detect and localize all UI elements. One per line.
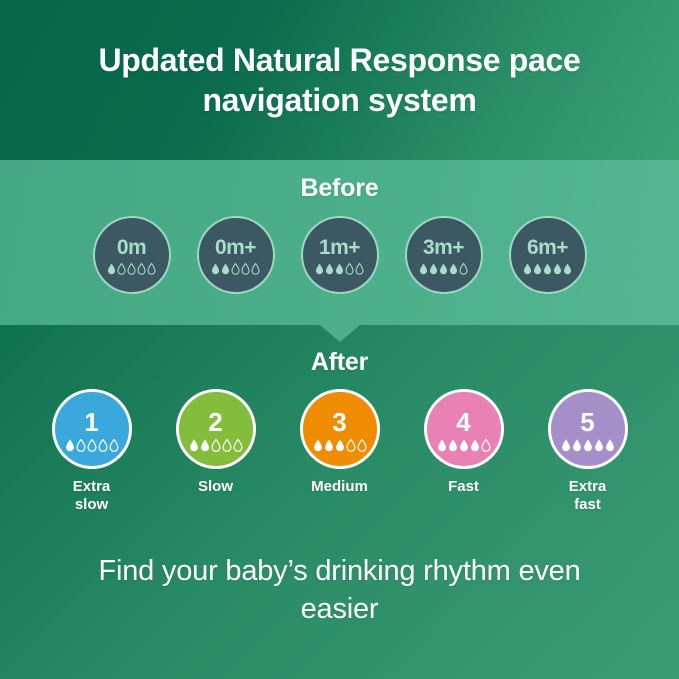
droplet-outline-icon (346, 439, 356, 452)
droplet-filled-icon (324, 439, 334, 452)
header-banner: Updated Natural Response pace navigation… (0, 0, 679, 160)
droplet-filled-icon (429, 263, 438, 275)
droplet-outline-icon (98, 439, 108, 452)
droplet-filled-icon (572, 439, 582, 452)
before-badge-age-label: 0m+ (215, 237, 256, 258)
before-droplet-meter (315, 263, 364, 275)
before-badge: 0m+ (197, 216, 275, 294)
after-badge: 5 (548, 389, 628, 469)
after-badge-label: Extra fast (569, 478, 607, 513)
droplet-filled-icon (605, 439, 615, 452)
droplet-outline-icon (137, 263, 146, 275)
after-badge-row: 1Extra slow2Slow3Medium4Fast5Extra fast (0, 389, 679, 513)
after-badge-number: 4 (456, 409, 470, 435)
page-title: Updated Natural Response pace navigation… (0, 40, 679, 120)
droplet-filled-icon (439, 263, 448, 275)
droplet-filled-icon (325, 263, 334, 275)
after-badge: 3 (300, 389, 380, 469)
after-badge-label: Fast (448, 478, 479, 496)
droplet-outline-icon (109, 439, 119, 452)
before-droplet-meter (419, 263, 468, 275)
droplet-filled-icon (211, 263, 220, 275)
after-droplet-meter (313, 439, 367, 452)
before-badge: 0m (93, 216, 171, 294)
droplet-filled-icon (65, 439, 75, 452)
before-badge: 6m+ (509, 216, 587, 294)
droplet-filled-icon (448, 439, 458, 452)
droplet-filled-icon (313, 439, 323, 452)
before-badge: 3m+ (405, 216, 483, 294)
droplet-filled-icon (107, 263, 116, 275)
after-badge-item: 1Extra slow (43, 389, 141, 513)
after-badge-number: 5 (580, 409, 594, 435)
after-badge-label: Extra slow (73, 478, 111, 513)
promo-poster: Updated Natural Response pace navigation… (0, 0, 679, 679)
after-badge-item: 3Medium (291, 389, 389, 496)
droplet-filled-icon (189, 439, 199, 452)
after-badge-item: 5Extra fast (539, 389, 637, 513)
after-badge-label: Medium (311, 478, 368, 496)
before-badge-row: 0m0m+1m+3m+6m+ (0, 216, 679, 294)
droplet-outline-icon (459, 263, 468, 275)
before-badge-age-label: 0m (117, 237, 146, 258)
footer-tagline: Find your baby’s drinking rhythm even ea… (0, 552, 679, 629)
before-droplet-meter (523, 263, 572, 275)
droplet-outline-icon (481, 439, 491, 452)
before-badge: 1m+ (301, 216, 379, 294)
before-droplet-meter (211, 263, 260, 275)
before-section: Before 0m0m+1m+3m+6m+ (0, 160, 679, 325)
after-section: After 1Extra slow2Slow3Medium4Fast5Extra… (0, 348, 679, 513)
before-badge-age-label: 6m+ (527, 237, 568, 258)
droplet-outline-icon (147, 263, 156, 275)
droplet-filled-icon (419, 263, 428, 275)
droplet-outline-icon (241, 263, 250, 275)
after-badge-number: 2 (208, 409, 222, 435)
after-badge-item: 2Slow (167, 389, 265, 496)
droplet-outline-icon (251, 263, 260, 275)
droplet-outline-icon (355, 263, 364, 275)
before-badge-age-label: 3m+ (423, 237, 464, 258)
droplet-filled-icon (533, 263, 542, 275)
droplet-filled-icon (543, 263, 552, 275)
after-badge: 2 (176, 389, 256, 469)
after-badge: 4 (424, 389, 504, 469)
droplet-filled-icon (583, 439, 593, 452)
droplet-outline-icon (76, 439, 86, 452)
droplet-outline-icon (117, 263, 126, 275)
triangle-down-icon (320, 325, 360, 342)
after-droplet-meter (189, 439, 243, 452)
droplet-filled-icon (315, 263, 324, 275)
after-badge-label: Slow (198, 478, 233, 496)
droplet-filled-icon (470, 439, 480, 452)
droplet-filled-icon (459, 439, 469, 452)
before-droplet-meter (107, 263, 156, 275)
droplet-outline-icon (222, 439, 232, 452)
droplet-outline-icon (127, 263, 136, 275)
before-heading: Before (0, 160, 679, 203)
after-heading: After (0, 348, 679, 377)
droplet-outline-icon (233, 439, 243, 452)
after-droplet-meter (65, 439, 119, 452)
droplet-outline-icon (211, 439, 221, 452)
after-badge-number: 1 (84, 409, 98, 435)
after-badge-number: 3 (332, 409, 346, 435)
droplet-filled-icon (335, 263, 344, 275)
droplet-filled-icon (437, 439, 447, 452)
droplet-outline-icon (231, 263, 240, 275)
droplet-filled-icon (200, 439, 210, 452)
droplet-filled-icon (561, 439, 571, 452)
droplet-filled-icon (335, 439, 345, 452)
after-badge-item: 4Fast (415, 389, 513, 496)
droplet-outline-icon (87, 439, 97, 452)
after-droplet-meter (561, 439, 615, 452)
droplet-outline-icon (345, 263, 354, 275)
droplet-filled-icon (563, 263, 572, 275)
droplet-filled-icon (221, 263, 230, 275)
droplet-filled-icon (553, 263, 562, 275)
droplet-filled-icon (523, 263, 532, 275)
droplet-filled-icon (449, 263, 458, 275)
droplet-filled-icon (594, 439, 604, 452)
droplet-outline-icon (357, 439, 367, 452)
after-badge: 1 (52, 389, 132, 469)
before-badge-age-label: 1m+ (319, 237, 360, 258)
after-droplet-meter (437, 439, 491, 452)
